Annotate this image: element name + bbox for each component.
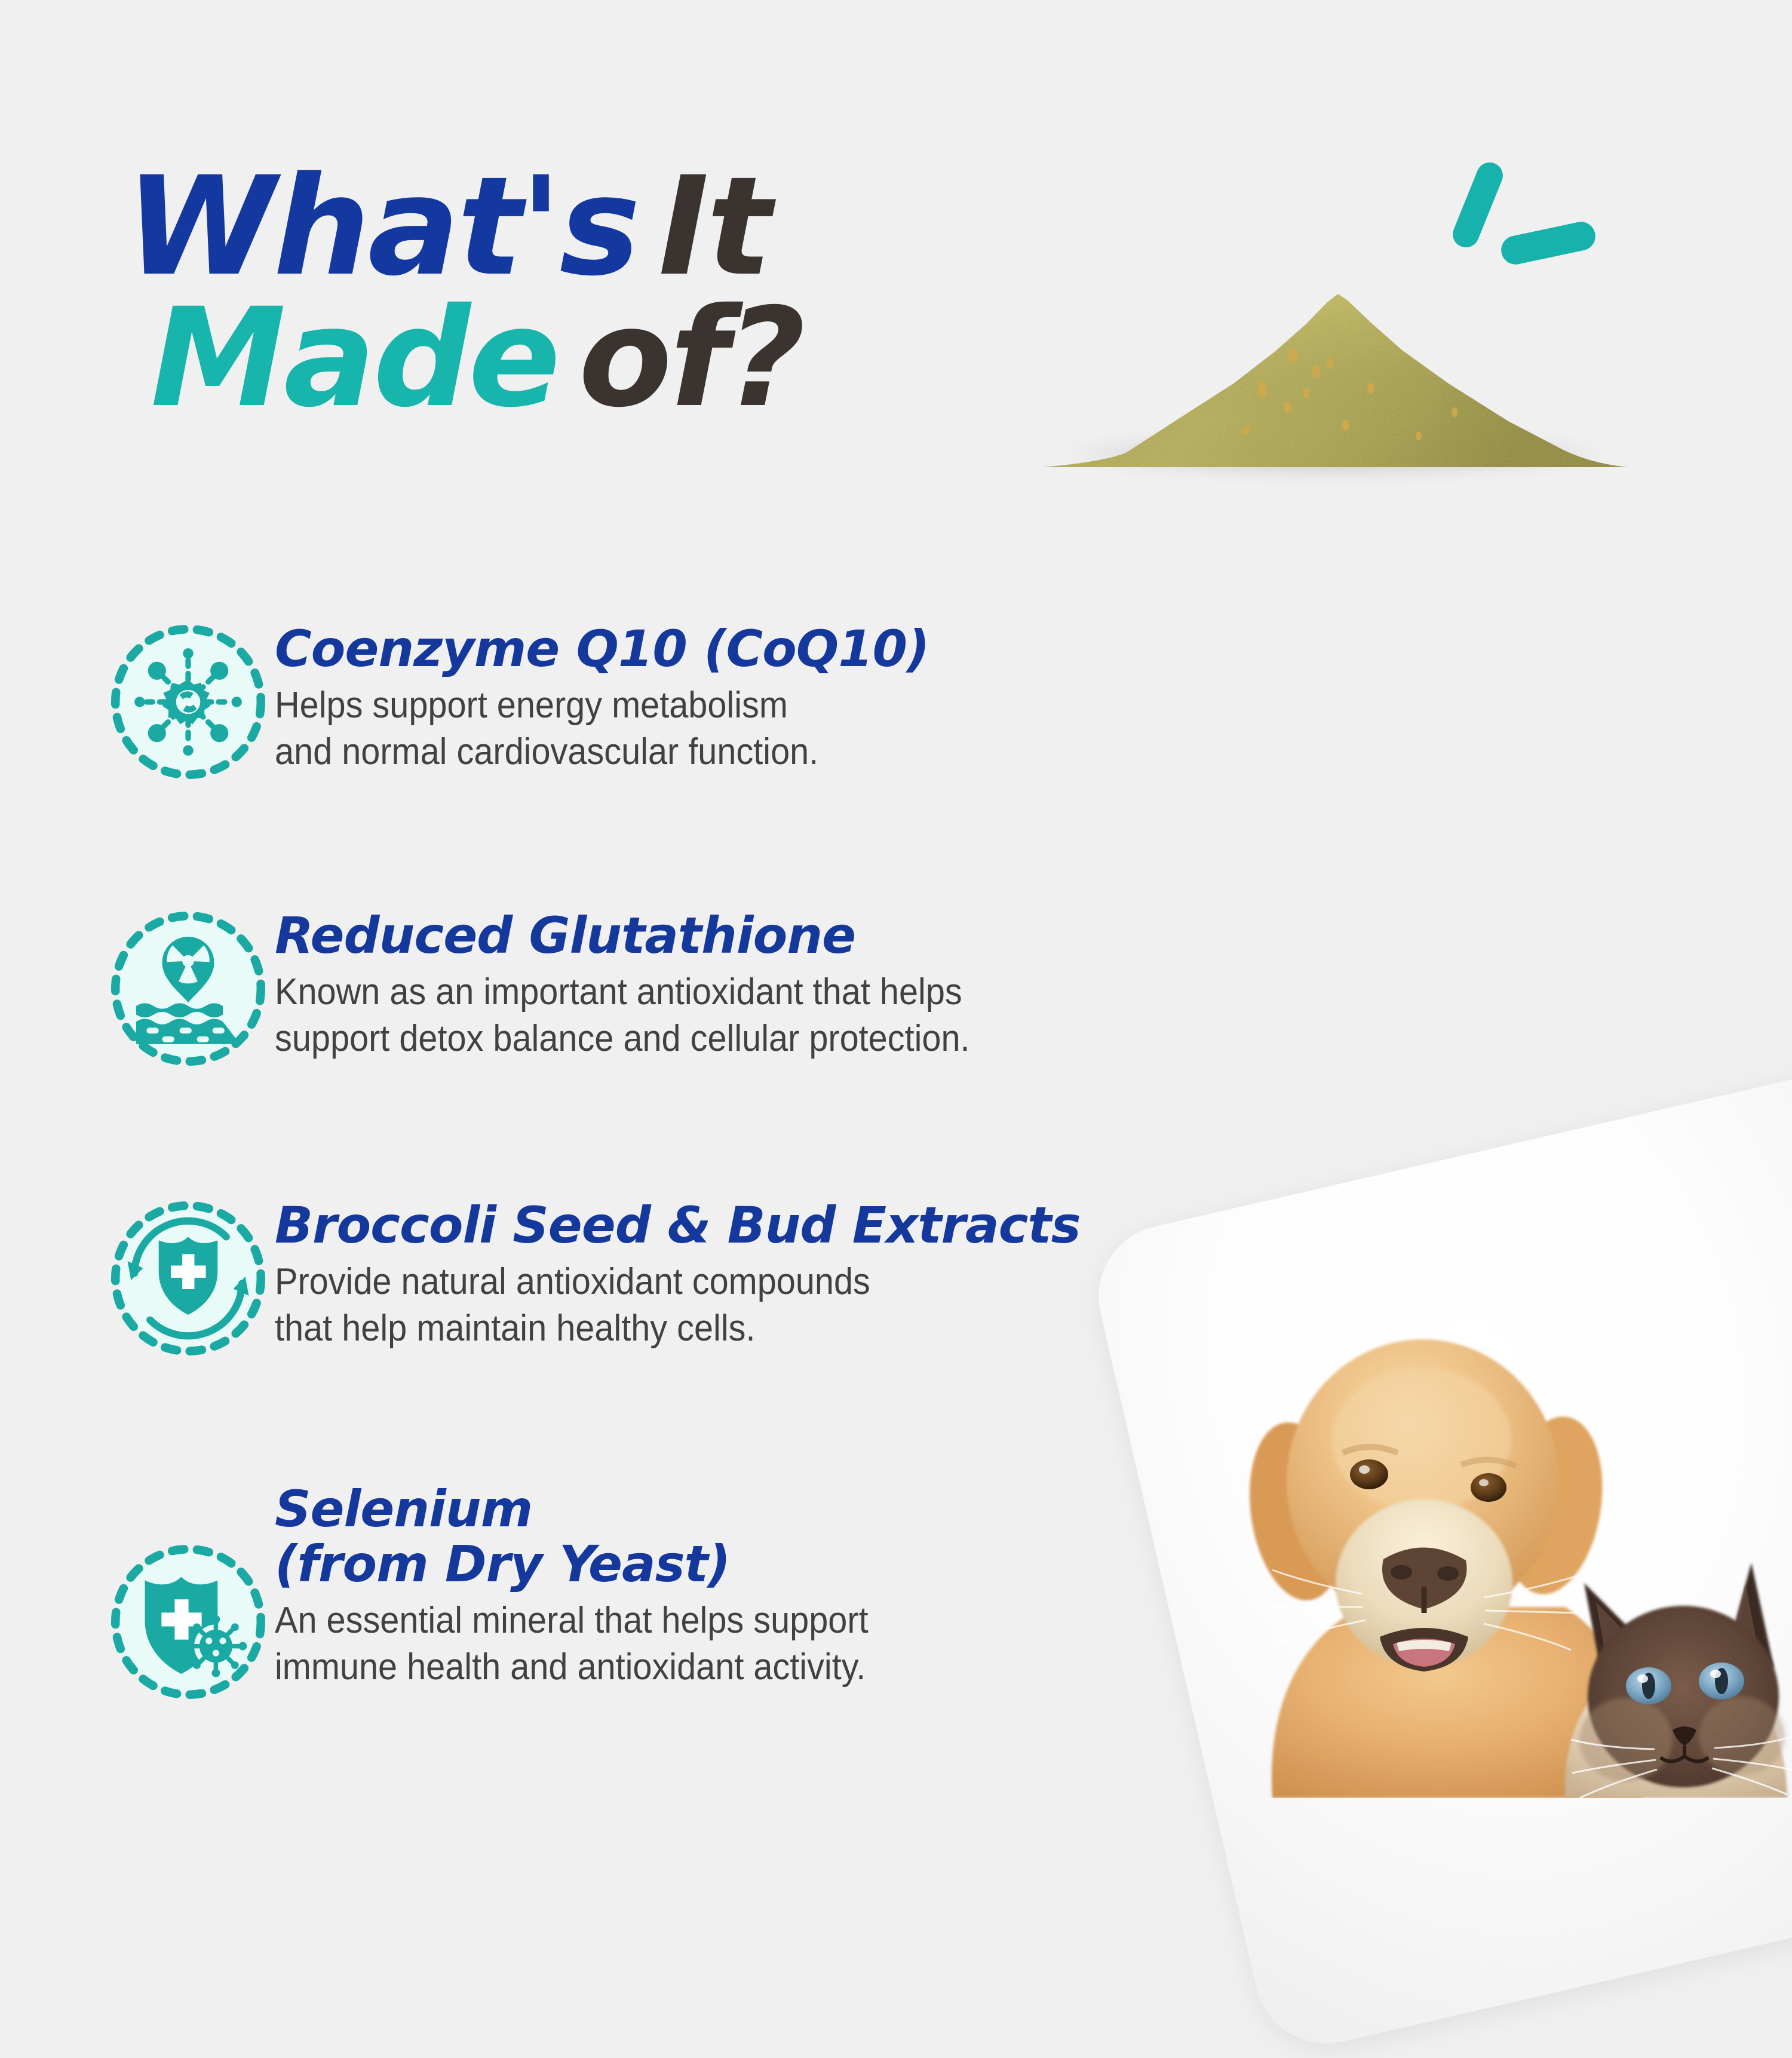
- ingredient-title: Reduced Glutathione: [275, 908, 1022, 963]
- green-powder-pile-image: [1036, 233, 1634, 472]
- desc-line: immune health and antioxidant activity.: [275, 1644, 869, 1691]
- desc-line: Helps support energy metabolism: [275, 682, 883, 729]
- desc-line: An essential mineral that helps support: [275, 1597, 869, 1644]
- title-line-2: Madeof?: [151, 305, 1057, 411]
- ingredient-title: Coenzyme Q10 (CoQ10): [275, 621, 929, 676]
- ingredient-text: Coenzyme Q10 (CoQ10) Helps support energ…: [275, 615, 929, 775]
- shield-plus-virus-icon: [102, 1535, 275, 1709]
- desc-line: that help maintain healthy cells.: [275, 1305, 1024, 1352]
- toxin-water-detox-icon: [102, 902, 275, 1075]
- ingredient-item-broccoli-extracts[interactable]: Broccoli Seed & Bud Extracts Provide nat…: [102, 1192, 1081, 1365]
- title-word-of: of?: [579, 278, 803, 437]
- ingredient-description: Known as an important antioxidant that h…: [275, 969, 970, 1062]
- title-line-1: What'sIt: [125, 173, 1057, 280]
- ingredient-title-line-2: (from Dry Yeast): [275, 1536, 913, 1591]
- ingredient-item-selenium[interactable]: Selenium (from Dry Yeast) An essential m…: [102, 1476, 913, 1709]
- ingredient-item-reduced-glutathione[interactable]: Reduced Glutathione Known as an importan…: [102, 902, 1022, 1075]
- desc-line: Known as an important antioxidant that h…: [275, 969, 970, 1016]
- ingredient-title-line-1: Selenium: [275, 1482, 913, 1536]
- ingredient-description: An essential mineral that helps support …: [275, 1597, 869, 1691]
- ingredient-description: Helps support energy metabolism and norm…: [275, 682, 883, 775]
- shield-plus-cycle-icon: [102, 1192, 275, 1365]
- ingredient-text: Reduced Glutathione Known as an importan…: [275, 902, 1022, 1062]
- ingredient-item-coenzyme-q10[interactable]: Coenzyme Q10 (CoQ10) Helps support energ…: [102, 615, 929, 789]
- desc-line: Provide natural antioxidant compounds: [275, 1259, 1024, 1305]
- ingredient-text: Selenium (from Dry Yeast) An essential m…: [275, 1476, 913, 1691]
- ingredient-text: Broccoli Seed & Bud Extracts Provide nat…: [275, 1192, 1081, 1352]
- desc-line: support detox balance and cellular prote…: [275, 1016, 970, 1062]
- desc-line: and normal cardiovascular function.: [275, 729, 883, 775]
- pet-photo-golden-retriever-and-siamese-cat: [1183, 1225, 1792, 1798]
- title-word-made: Made: [151, 278, 559, 437]
- cat-figure: [1565, 1563, 1792, 1798]
- molecule-network-icon: [102, 615, 275, 789]
- ingredient-description: Provide natural antioxidant compounds th…: [275, 1259, 1024, 1352]
- ingredient-title: Broccoli Seed & Bud Extracts: [275, 1198, 1081, 1253]
- page-title: What'sIt Madeof?: [125, 173, 1057, 411]
